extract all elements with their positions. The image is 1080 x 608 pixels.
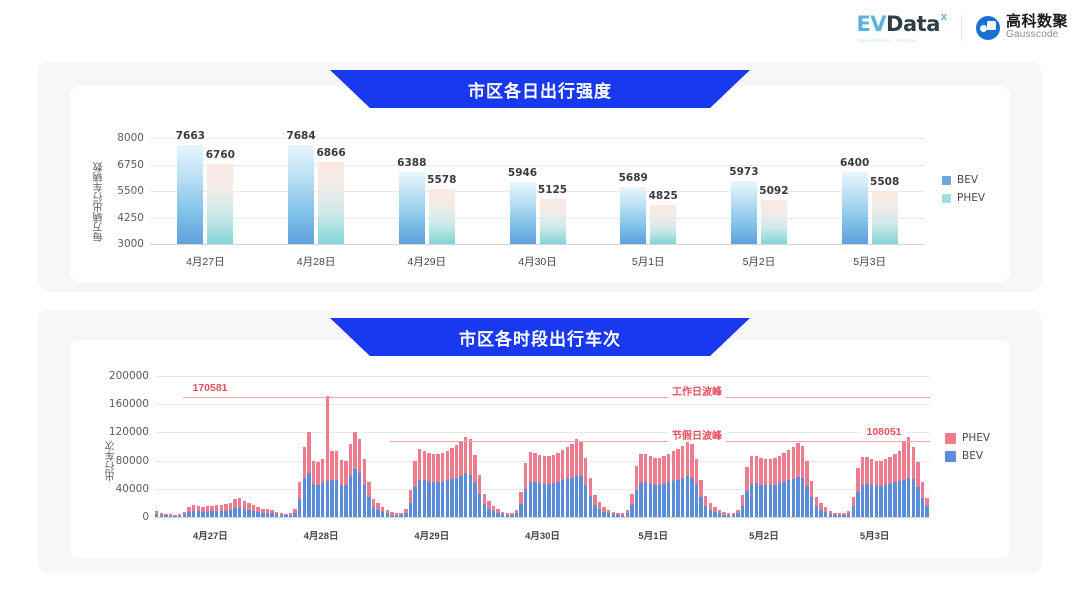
- bar-segment-bev: [902, 480, 905, 517]
- bar-segment-phev: [898, 451, 901, 481]
- stacked-bar: [893, 454, 896, 517]
- bar-segment-bev: [870, 485, 873, 517]
- stacked-bar: [681, 446, 684, 517]
- bar-segment-bev: [187, 512, 190, 517]
- bar-segment-bev: [450, 479, 453, 517]
- stacked-bar: [902, 441, 905, 517]
- stacked-bar: [644, 454, 647, 517]
- stacked-bar: [847, 511, 850, 517]
- stacked-bar: [409, 490, 412, 517]
- bar-segment-phev: [556, 453, 559, 482]
- stacked-bar: [575, 439, 578, 517]
- stacked-bar: [312, 461, 315, 517]
- stacked-bar: [879, 461, 882, 517]
- bar-segment-phev: [658, 458, 661, 485]
- bar-segment-bev: [773, 485, 776, 517]
- bar-segment-bev: [649, 484, 652, 517]
- bar-segment-bev: [418, 480, 421, 517]
- bar-segment-bev: [487, 509, 490, 517]
- bar-segment-phev: [921, 482, 924, 498]
- y-axis-tick: 80000: [99, 455, 149, 467]
- bar-segment-phev: [349, 444, 352, 476]
- stacked-bar: [326, 396, 329, 517]
- stacked-bar: [538, 455, 541, 517]
- bar-segment-phev: [330, 451, 333, 481]
- bar-segment-phev: [649, 456, 652, 483]
- stacked-bar: [229, 503, 232, 517]
- weekday-peak-line: [183, 397, 930, 399]
- bar-segment-bev: [469, 475, 472, 517]
- stacked-bar: [861, 457, 864, 517]
- holiday-peak-value: 108051: [861, 426, 906, 438]
- bar-segment-bev: [635, 490, 638, 517]
- stacked-bar: [801, 446, 804, 517]
- bar-segment-bev: [745, 491, 748, 517]
- bar-segment-bev: [824, 512, 827, 517]
- bar-segment-bev: [496, 513, 499, 517]
- stacked-bar: [247, 503, 250, 517]
- bar-segment-phev: [538, 455, 541, 483]
- bar-segment-phev: [552, 455, 555, 483]
- bar-segment-bev: [459, 476, 462, 517]
- stacked-bar: [865, 457, 868, 517]
- bar-segment-phev: [455, 445, 458, 477]
- bar-segment-phev: [524, 463, 527, 488]
- bar-segment-bev: [722, 515, 725, 517]
- bar-segment-bev: [404, 513, 407, 517]
- bar-segment-bev: [695, 485, 698, 517]
- stacked-bar: [358, 439, 361, 517]
- stacked-bar: [792, 447, 795, 517]
- stacked-bar: [815, 497, 818, 517]
- bar-segment-phev: [409, 490, 412, 503]
- bar-segment-phev: [358, 439, 361, 473]
- bar-segment-phev: [805, 461, 808, 486]
- bar-segment-phev: [699, 480, 702, 497]
- bar-segment-bev: [432, 482, 435, 517]
- bar-segment-phev: [247, 503, 250, 510]
- stacked-bar: [750, 456, 753, 517]
- bar-segment-phev: [335, 451, 338, 481]
- bar-segment-bev: [829, 514, 832, 517]
- bar-segment-bev: [815, 506, 818, 517]
- stacked-bar: [459, 442, 462, 517]
- weekday-peak-value: 170581: [187, 382, 232, 394]
- stacked-bar: [335, 451, 338, 517]
- bar-segment-bev: [865, 484, 868, 517]
- stacked-bar: [395, 513, 398, 517]
- stacked-bar: [921, 482, 924, 517]
- stacked-bar: [833, 513, 836, 517]
- bar-segment-bev: [533, 482, 536, 517]
- bar-segment-phev: [810, 481, 813, 497]
- bar-segment-phev: [598, 502, 601, 509]
- legend-item-phev[interactable]: PHEV: [945, 432, 990, 444]
- stacked-bar: [238, 498, 241, 517]
- bar-segment-bev: [792, 479, 795, 517]
- bar-segment-phev: [745, 467, 748, 491]
- stacked-bar: [201, 507, 204, 517]
- bar-segment-bev: [769, 485, 772, 517]
- stacked-bar: [547, 456, 550, 517]
- grid-line: [155, 432, 930, 433]
- stacked-bar: [662, 456, 665, 517]
- stacked-bar: [704, 496, 707, 517]
- bar-segment-phev: [815, 497, 818, 506]
- bar-segment-phev: [353, 432, 356, 469]
- x-axis-tick: 4月30日: [525, 528, 560, 542]
- stacked-bar: [709, 503, 712, 517]
- stacked-bar: [289, 513, 292, 517]
- stacked-bar: [524, 463, 527, 517]
- bar-segment-bev: [672, 481, 675, 517]
- weekday-peak-label: 工作日波峰: [668, 383, 726, 398]
- bar-segment-phev: [755, 456, 758, 483]
- bar-segment-phev: [427, 453, 430, 482]
- bar-segment-bev: [390, 515, 393, 517]
- holiday-peak-line: [390, 441, 930, 443]
- stacked-bar: [224, 504, 227, 517]
- bar-segment-phev: [446, 451, 449, 481]
- bar-segment-bev: [916, 487, 919, 517]
- bar-segment-bev: [197, 511, 200, 517]
- stacked-bar: [741, 495, 744, 517]
- stacked-bar: [838, 513, 841, 517]
- stacked-bar: [566, 447, 569, 517]
- bar-segment-phev: [367, 482, 370, 498]
- bar-segment-bev: [778, 483, 781, 517]
- stacked-bar: [187, 507, 190, 517]
- stacked-bar: [441, 453, 444, 517]
- stacked-bar: [519, 492, 522, 517]
- bar-segment-bev: [173, 516, 176, 517]
- stacked-bar: [888, 457, 891, 517]
- bar-segment-phev: [704, 496, 707, 506]
- stacked-bar: [584, 458, 587, 517]
- bar-segment-bev: [483, 504, 486, 517]
- bar-segment-bev: [736, 513, 739, 517]
- stacked-bar: [589, 478, 592, 517]
- bar-segment-bev: [852, 506, 855, 517]
- bar-segment-phev: [418, 449, 421, 480]
- bar-segment-bev: [473, 483, 476, 517]
- bar-segment-phev: [865, 457, 868, 484]
- stacked-bar: [197, 506, 200, 517]
- bar-segment-bev: [363, 485, 366, 517]
- bar-segment-bev: [183, 514, 186, 517]
- stacked-bar: [252, 505, 255, 517]
- stacked-bar: [602, 507, 605, 517]
- stacked-bar: [173, 515, 176, 517]
- bar-segment-bev: [925, 506, 928, 517]
- bar-segment-bev: [492, 511, 495, 517]
- bar-segment-bev: [598, 509, 601, 517]
- bar-segment-phev: [644, 454, 647, 482]
- bar-segment-phev: [579, 442, 582, 476]
- bar-segment-bev: [160, 515, 163, 517]
- bar-segment-bev: [353, 469, 356, 517]
- stacked-bar: [155, 511, 158, 517]
- bar-segment-phev: [639, 454, 642, 483]
- bar-segment-bev: [455, 478, 458, 517]
- stacked-bar: [639, 454, 642, 517]
- bar-segment-bev: [741, 506, 744, 517]
- bar-segment-phev: [372, 499, 375, 507]
- bar-segment-bev: [303, 478, 306, 517]
- x-axis-tick: 4月28日: [304, 528, 339, 542]
- stacked-bar: [630, 494, 633, 517]
- stacked-bar: [916, 462, 919, 517]
- bar-segment-bev: [340, 485, 343, 517]
- bar-segment-phev: [584, 458, 587, 485]
- stacked-bar: [925, 498, 928, 517]
- bar-segment-phev: [547, 456, 550, 483]
- stacked-bar: [769, 459, 772, 517]
- bar-segment-bev: [686, 476, 689, 517]
- stacked-bar: [533, 453, 536, 517]
- bar-segment-bev: [653, 485, 656, 517]
- stacked-bar: [303, 447, 306, 518]
- stacked-bar: [856, 468, 859, 517]
- bar-segment-bev: [847, 514, 850, 517]
- bar-segment-phev: [303, 447, 306, 479]
- stacked-bar: [722, 512, 725, 517]
- chart-title-daily-intensity: 市区各日出行强度: [330, 70, 750, 108]
- holiday-peak-label: 节假日波峰: [668, 427, 726, 442]
- stacked-bar: [870, 459, 873, 517]
- stacked-bar: [210, 506, 213, 517]
- bar-segment-bev: [543, 484, 546, 517]
- bar-segment-bev: [732, 515, 735, 517]
- bar-segment-bev: [178, 516, 181, 517]
- y-axis-label: 出行车次: [104, 411, 119, 481]
- bar-segment-bev: [602, 512, 605, 517]
- bar-segment-phev: [750, 456, 753, 484]
- bar-segment-bev: [893, 482, 896, 517]
- bar-segment-bev: [524, 489, 527, 517]
- bar-segment-bev: [566, 479, 569, 517]
- stacked-bar: [686, 442, 689, 517]
- stacked-bar: [298, 482, 301, 517]
- screenshot-root: EVDatax SHANGHAI CHINA 高科数聚 Gausscode 市区…: [0, 0, 1080, 608]
- bar-segment-bev: [344, 485, 347, 517]
- bar-segment-bev: [427, 482, 430, 517]
- stacked-bar: [464, 437, 467, 517]
- bar-segment-phev: [741, 495, 744, 506]
- bar-segment-phev: [469, 439, 472, 474]
- stacked-bar: [266, 509, 269, 517]
- stacked-bar: [810, 481, 813, 517]
- bar-segment-bev: [593, 505, 596, 517]
- bar-segment-bev: [372, 507, 375, 517]
- stacked-bar: [621, 513, 624, 517]
- stacked-bar: [907, 437, 910, 517]
- bar-segment-bev: [842, 515, 845, 517]
- bar-segment-bev: [307, 473, 310, 517]
- stacked-bar: [759, 458, 762, 517]
- bar-segment-phev: [879, 461, 882, 486]
- bar-segment-bev: [718, 513, 721, 517]
- bar-segment-bev: [284, 515, 287, 517]
- bar-segment-bev: [912, 479, 915, 517]
- bar-segment-bev: [796, 477, 799, 517]
- stacked-bar: [469, 439, 472, 517]
- bar-segment-phev: [376, 503, 379, 510]
- bar-segment-phev: [925, 498, 928, 507]
- x-axis-tick: 5月3日: [860, 528, 890, 542]
- bar-segment-bev: [667, 482, 670, 517]
- bar-segment-bev: [662, 484, 665, 517]
- bar-segment-bev: [252, 511, 255, 517]
- stacked-bar: [552, 455, 555, 517]
- bar-segment-phev: [875, 461, 878, 486]
- bar-segment-bev: [413, 487, 416, 517]
- chart-legend-hourly: PHEVBEV: [945, 432, 990, 462]
- stacked-bar: [183, 512, 186, 517]
- bar-segment-phev: [459, 442, 462, 476]
- bar-segment-bev: [519, 504, 522, 517]
- bar-segment-bev: [755, 483, 758, 517]
- bar-segment-bev: [833, 515, 836, 517]
- bar-segment-phev: [893, 454, 896, 482]
- bar-segment-phev: [662, 456, 665, 483]
- bar-segment-phev: [916, 462, 919, 487]
- stacked-bar: [805, 461, 808, 517]
- stacked-bar: [220, 505, 223, 517]
- bar-segment-bev: [192, 511, 195, 517]
- bar-segment-bev: [358, 473, 361, 517]
- bar-segment-bev: [658, 485, 661, 517]
- bar-segment-phev: [533, 453, 536, 482]
- bar-segment-phev: [432, 454, 435, 482]
- stacked-bar: [349, 444, 352, 517]
- stacked-bar: [658, 458, 661, 517]
- bar-segment-phev: [529, 452, 532, 482]
- grid-line: [155, 517, 930, 518]
- bar-segment-bev: [210, 511, 213, 517]
- bar-segment-phev: [344, 461, 347, 485]
- stacked-bar: [667, 454, 670, 517]
- stacked-bar: [492, 506, 495, 517]
- bar-segment-bev: [399, 515, 402, 517]
- bar-segment-bev: [224, 511, 227, 517]
- bar-segment-phev: [630, 494, 633, 505]
- bar-segment-phev: [686, 442, 689, 477]
- bar-segment-bev: [330, 480, 333, 517]
- bar-segment-bev: [782, 482, 785, 517]
- stacked-bar: [432, 454, 435, 517]
- bar-segment-bev: [621, 515, 624, 517]
- bar-segment-bev: [316, 485, 319, 517]
- bar-segment-bev: [409, 503, 412, 517]
- bar-segment-bev: [164, 515, 167, 517]
- bar-segment-phev: [326, 396, 329, 481]
- bar-segment-phev: [912, 447, 915, 479]
- legend-label: BEV: [962, 450, 983, 462]
- stacked-bar: [561, 450, 564, 517]
- bar-segment-bev: [376, 510, 379, 517]
- stacked-bar: [695, 459, 698, 517]
- bar-segment-bev: [510, 515, 513, 517]
- bar-segment-bev: [644, 482, 647, 517]
- y-axis-tick: 0: [99, 511, 149, 523]
- stacked-bar: [215, 505, 218, 517]
- stacked-bar: [515, 510, 518, 517]
- stacked-bar: [543, 456, 546, 517]
- stacked-bar: [367, 482, 370, 517]
- bar-segment-bev: [515, 513, 518, 517]
- bar-segment-bev: [616, 515, 619, 517]
- stacked-bar: [372, 499, 375, 517]
- bar-segment-bev: [639, 483, 642, 517]
- stacked-bar: [782, 453, 785, 517]
- stacked-bar: [399, 513, 402, 517]
- bar-segment-phev: [852, 497, 855, 507]
- bar-segment-phev: [233, 499, 236, 507]
- bar-segment-bev: [584, 485, 587, 517]
- bar-segment-bev: [884, 485, 887, 517]
- bar-segment-bev: [888, 484, 891, 517]
- stacked-bar: [436, 454, 439, 517]
- bar-segment-phev: [773, 458, 776, 485]
- bar-segment-bev: [243, 509, 246, 517]
- y-axis-tick: 160000: [99, 398, 149, 410]
- bar-segment-phev: [243, 501, 246, 509]
- stacked-bar: [672, 451, 675, 517]
- x-axis-tick: 4月29日: [414, 528, 449, 542]
- y-axis-tick: 200000: [99, 370, 149, 382]
- bar-segment-bev: [293, 513, 296, 517]
- bar-segment-phev: [884, 459, 887, 485]
- bar-segment-bev: [280, 515, 283, 517]
- bar-segment-bev: [727, 515, 730, 517]
- stacked-bar: [427, 453, 430, 517]
- bar-segment-phev: [667, 454, 670, 482]
- stacked-bar: [842, 513, 845, 517]
- stacked-bar: [699, 480, 702, 517]
- bar-segment-bev: [220, 511, 223, 517]
- bar-segment-phev: [450, 448, 453, 479]
- bar-segment-bev: [552, 483, 555, 517]
- stacked-bar: [455, 445, 458, 517]
- bar-segment-bev: [810, 497, 813, 517]
- chart-title-hourly-trips: 市区各时段出行车次: [330, 318, 750, 356]
- stacked-bar: [404, 509, 407, 517]
- bar-segment-phev: [695, 459, 698, 485]
- bar-segment-bev: [759, 485, 762, 517]
- stacked-bar: [773, 458, 776, 517]
- bar-segment-bev: [275, 514, 278, 517]
- stacked-bar: [160, 513, 163, 517]
- stacked-bar: [593, 495, 596, 517]
- bar-segment-phev: [676, 449, 679, 480]
- bar-segment-phev: [575, 439, 578, 474]
- bar-segment-bev: [441, 482, 444, 517]
- bar-segment-bev: [819, 510, 822, 517]
- stacked-bar: [423, 451, 426, 517]
- stacked-bar: [824, 507, 827, 517]
- bar-segment-bev: [289, 515, 292, 517]
- bar-segment-bev: [907, 478, 910, 517]
- stacked-bar: [912, 447, 915, 517]
- legend-item-bev[interactable]: BEV: [945, 450, 990, 462]
- stacked-bar: [598, 502, 601, 517]
- bar-segment-bev: [238, 507, 241, 517]
- bar-segment-phev: [321, 459, 324, 483]
- bar-segment-bev: [699, 497, 702, 517]
- stacked-bar: [829, 511, 832, 517]
- stacked-bar: [635, 466, 638, 517]
